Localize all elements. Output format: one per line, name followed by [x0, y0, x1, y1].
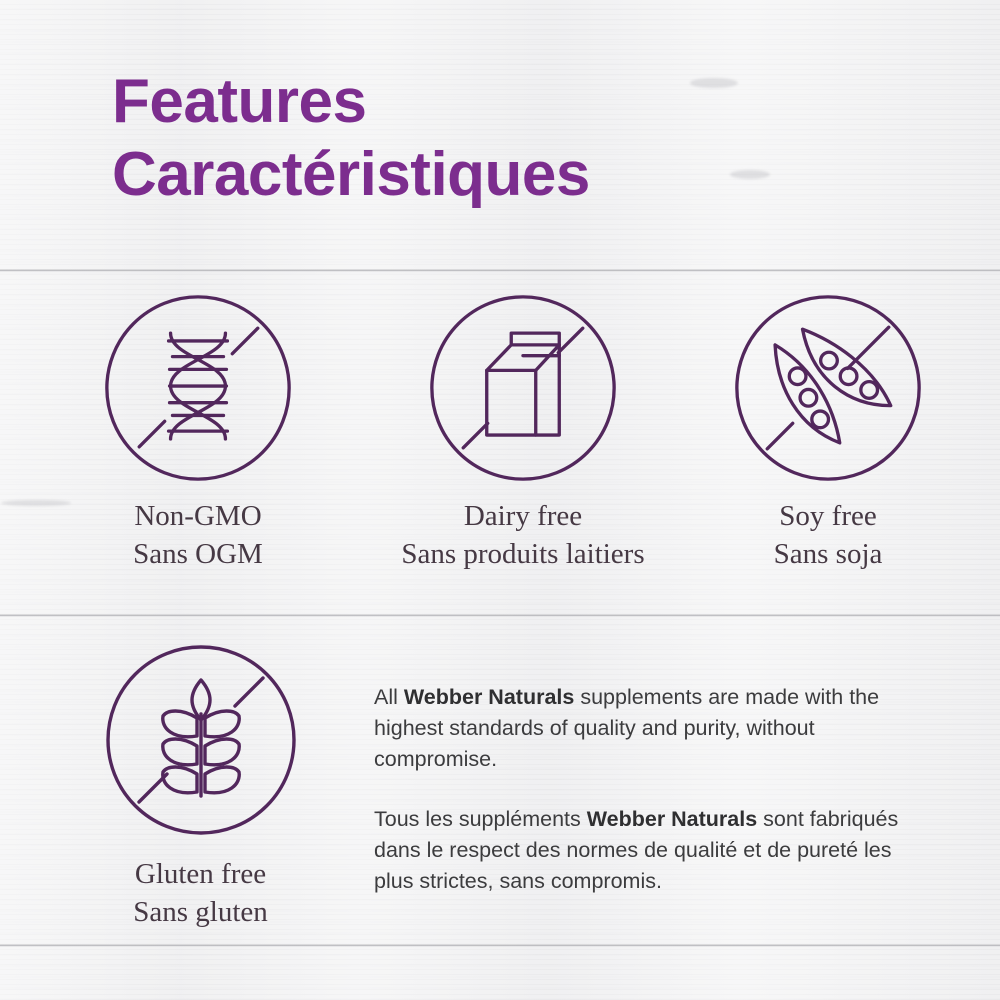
page-title-en: Features	[112, 72, 590, 133]
description-block: All Webber Naturals supplements are made…	[374, 682, 934, 897]
feature-label-en: Non-GMO	[133, 498, 263, 536]
feature-item-dairy-free: Dairy free Sans produits laitiers	[368, 290, 678, 573]
page-title-fr: Caractéristiques	[112, 145, 590, 206]
no-dairy-milk-carton-icon	[425, 290, 621, 486]
feature-label-en: Gluten free	[133, 856, 268, 894]
description-paragraph-en: All Webber Naturals supplements are made…	[374, 682, 934, 776]
feature-label-dairy-free: Dairy free Sans produits laitiers	[401, 498, 644, 573]
page-title: Features Caractéristiques	[112, 72, 590, 206]
brand-name-fr: Webber Naturals	[587, 807, 757, 831]
feature-label-en: Dairy free	[401, 498, 644, 536]
paragraph-fr-lead: Tous les suppléments	[374, 807, 587, 831]
feature-item-gluten-free: Gluten free Sans gluten	[98, 640, 303, 931]
feature-label-gluten-free: Gluten free Sans gluten	[133, 856, 268, 931]
feature-label-fr: Sans gluten	[133, 894, 268, 932]
brand-name-en: Webber Naturals	[404, 685, 574, 709]
feature-label-en: Soy free	[774, 498, 883, 536]
feature-label-soy-free: Soy free Sans soja	[774, 498, 883, 573]
feature-label-fr: Sans soja	[774, 536, 883, 574]
no-gmo-dna-icon	[100, 290, 296, 486]
feature-label-fr: Sans OGM	[133, 536, 263, 574]
no-gluten-wheat-icon	[101, 640, 301, 840]
description-paragraph-fr: Tous les suppléments Webber Naturals son…	[374, 804, 934, 898]
feature-item-non-gmo: Non-GMO Sans OGM	[28, 290, 368, 573]
feature-row-top: Non-GMO Sans OGM Dairy	[0, 290, 1000, 573]
paragraph-en-lead: All	[374, 685, 404, 709]
feature-item-soy-free: Soy free Sans soja	[678, 290, 978, 573]
no-soy-pods-icon	[730, 290, 926, 486]
feature-label-non-gmo: Non-GMO Sans OGM	[133, 498, 263, 573]
feature-label-fr: Sans produits laitiers	[401, 536, 644, 574]
